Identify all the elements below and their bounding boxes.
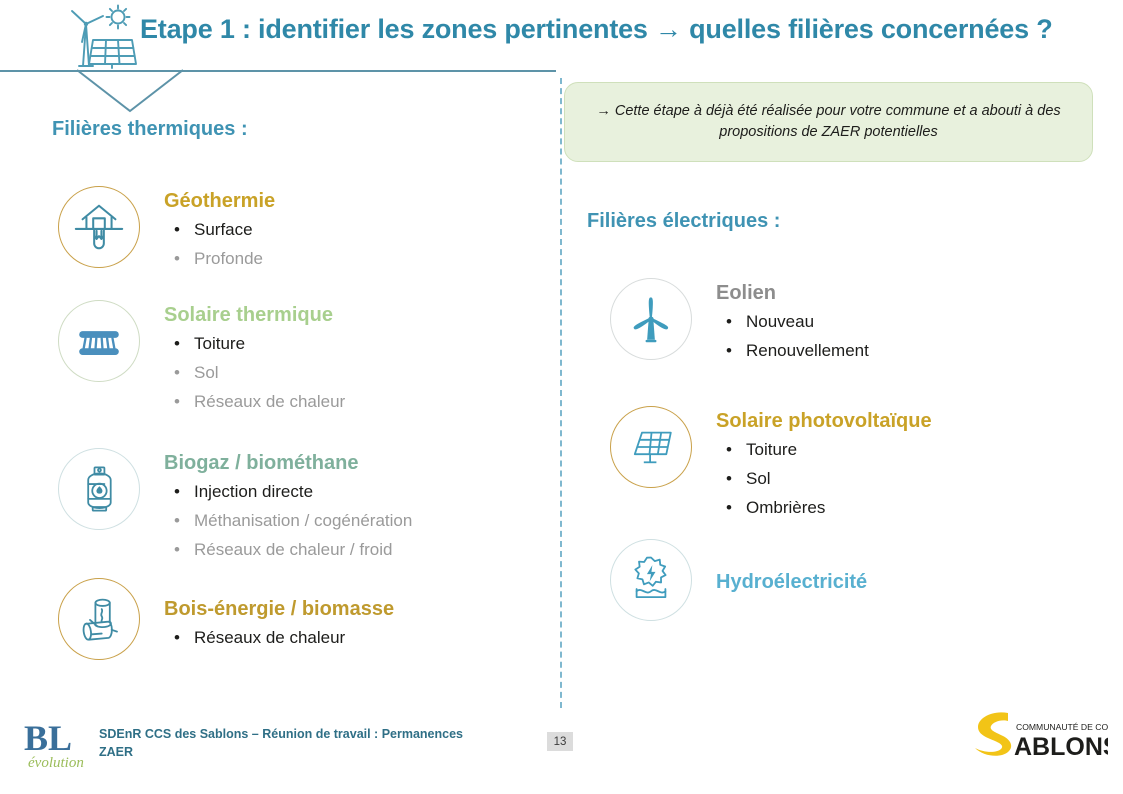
list-item-label: Profonde [194,249,263,268]
filiere-body: Biogaz / biométhane •Injection directe •… [164,448,412,565]
list-item: •Réseaux de chaleur / froid [164,535,412,564]
wood-log-icon [58,578,140,660]
bullet-icon: • [174,329,180,358]
filiere-item-list: •Toiture •Sol •Réseaux de chaleur [164,329,345,417]
list-item: •Sol [716,464,932,493]
list-item-label: Réseaux de chaleur / froid [194,540,392,559]
wind-turbine-icon [610,278,692,360]
left-column-heading: Filières thermiques : [52,118,248,141]
bullet-icon: • [174,535,180,564]
list-item-label: Surface [194,220,253,239]
list-item-label: Sol [746,469,771,488]
filiere-item-list: •Nouveau •Renouvellement [716,307,869,365]
page-number-badge: 13 [547,732,573,751]
bullet-icon: • [726,435,732,464]
page-title: Etape 1 : identifier les zones pertinent… [140,14,1053,45]
solar-panel-icon [610,406,692,488]
bullet-icon: • [726,464,732,493]
list-item: •Ombrières [716,493,932,522]
list-item: •Méthanisation / cogénération [164,506,412,535]
filiere-title: Bois-énergie / biomasse [164,598,394,621]
bullet-icon: • [726,493,732,522]
filiere-title: Géothermie [164,190,275,213]
communaute-de-communes-des-sablons-logo: COMMUNAUTÉ DE COMMUNES DES ABLONS [968,705,1108,767]
filiere-title: Solaire thermique [164,304,345,327]
list-item-label: Toiture [746,440,797,459]
callout-box: → Cette étape à déjà été réalisée pour v… [564,82,1093,162]
list-item-label: Nouveau [746,312,814,331]
list-item-label: Ombrières [746,498,825,517]
list-item: •Sol [164,358,345,387]
bullet-icon: • [174,623,180,652]
bullet-icon: • [726,336,732,365]
list-item: •Surface [164,215,275,244]
filiere-title: Hydroélectricité [716,571,867,594]
bullet-icon: • [174,387,180,416]
filiere-row-biogaz: Biogaz / biométhane •Injection directe •… [58,448,412,565]
list-item-label: Réseaux de chaleur [194,392,345,411]
bullet-icon: • [726,307,732,336]
org-logo-main-text: ABLONS [1014,733,1108,761]
filiere-row-solaire-thermique: Solaire thermique •Toiture •Sol •Réseaux… [58,300,345,417]
filiere-row-geothermie: Géothermie •Surface •Profonde [58,186,275,273]
footer-caption: SDEnR CCS des Sablons – Réunion de trava… [99,726,469,762]
list-item-label: Injection directe [194,482,313,501]
bullet-icon: • [174,477,180,506]
filiere-body: Géothermie •Surface •Profonde [164,186,275,273]
list-item: •Renouvellement [716,336,869,365]
slide-root: Etape 1 : identifier les zones pertinent… [0,0,1123,794]
list-item-label: Réseaux de chaleur [194,628,345,647]
filiere-title: Biogaz / biométhane [164,452,412,475]
bl-logo-text: BL [24,718,72,758]
filiere-body: Hydroélectricité [716,567,867,594]
callout-text: → Cette étape à déjà été réalisée pour v… [594,101,1064,143]
right-column-heading: Filières électriques : [587,210,780,233]
list-item-label: Renouvellement [746,341,869,360]
list-item: •Toiture [716,435,932,464]
org-logo-top-text: COMMUNAUTÉ DE COMMUNES DES [1016,722,1108,732]
bullet-icon: • [174,506,180,535]
filiere-body: Bois-énergie / biomasse •Réseaux de chal… [164,578,394,652]
filiere-title: Eolien [716,282,869,305]
bullet-icon: • [174,215,180,244]
geothermal-house-probe-icon [58,186,140,268]
list-item: •Réseaux de chaleur [164,623,394,652]
filiere-item-list: •Injection directe •Méthanisation / cogé… [164,477,412,565]
list-item-label: Méthanisation / cogénération [194,511,412,530]
filiere-row-bois-energie: Bois-énergie / biomasse •Réseaux de chal… [58,578,394,660]
bullet-icon: • [174,244,180,273]
bullet-icon: • [174,358,180,387]
filiere-body: Eolien •Nouveau •Renouvellement [716,278,869,365]
list-item: •Toiture [164,329,345,358]
filiere-body: Solaire photovoltaïque •Toiture •Sol •Om… [716,406,932,523]
list-item-label: Sol [194,363,219,382]
filiere-item-list: •Surface •Profonde [164,215,275,273]
header-chevron-icon [60,69,200,113]
column-divider [560,78,562,708]
slide-header: Etape 1 : identifier les zones pertinent… [0,0,1123,78]
list-item: •Nouveau [716,307,869,336]
filiere-item-list: •Réseaux de chaleur [164,623,394,652]
wind-turbine-solar-panel-sun-icon [62,4,138,70]
hydro-turbine-water-icon [610,539,692,621]
bl-logo-subtext: évolution [28,755,84,771]
gas-cylinder-flame-icon [58,448,140,530]
filiere-item-list: •Toiture •Sol •Ombrières [716,435,932,523]
filiere-row-photovoltaique: Solaire photovoltaïque •Toiture •Sol •Om… [610,406,932,523]
list-item: •Réseaux de chaleur [164,387,345,416]
filiere-body: Solaire thermique •Toiture •Sol •Réseaux… [164,300,345,417]
filiere-row-eolien: Eolien •Nouveau •Renouvellement [610,278,869,365]
filiere-title: Solaire photovoltaïque [716,410,932,433]
list-item: •Profonde [164,244,275,273]
filiere-row-hydroelectricite: Hydroélectricité [610,539,867,621]
bl-evolution-logo: BL évolution [22,716,92,774]
list-item-label: Toiture [194,334,245,353]
list-item: •Injection directe [164,477,412,506]
solar-thermal-collector-icon [58,300,140,382]
